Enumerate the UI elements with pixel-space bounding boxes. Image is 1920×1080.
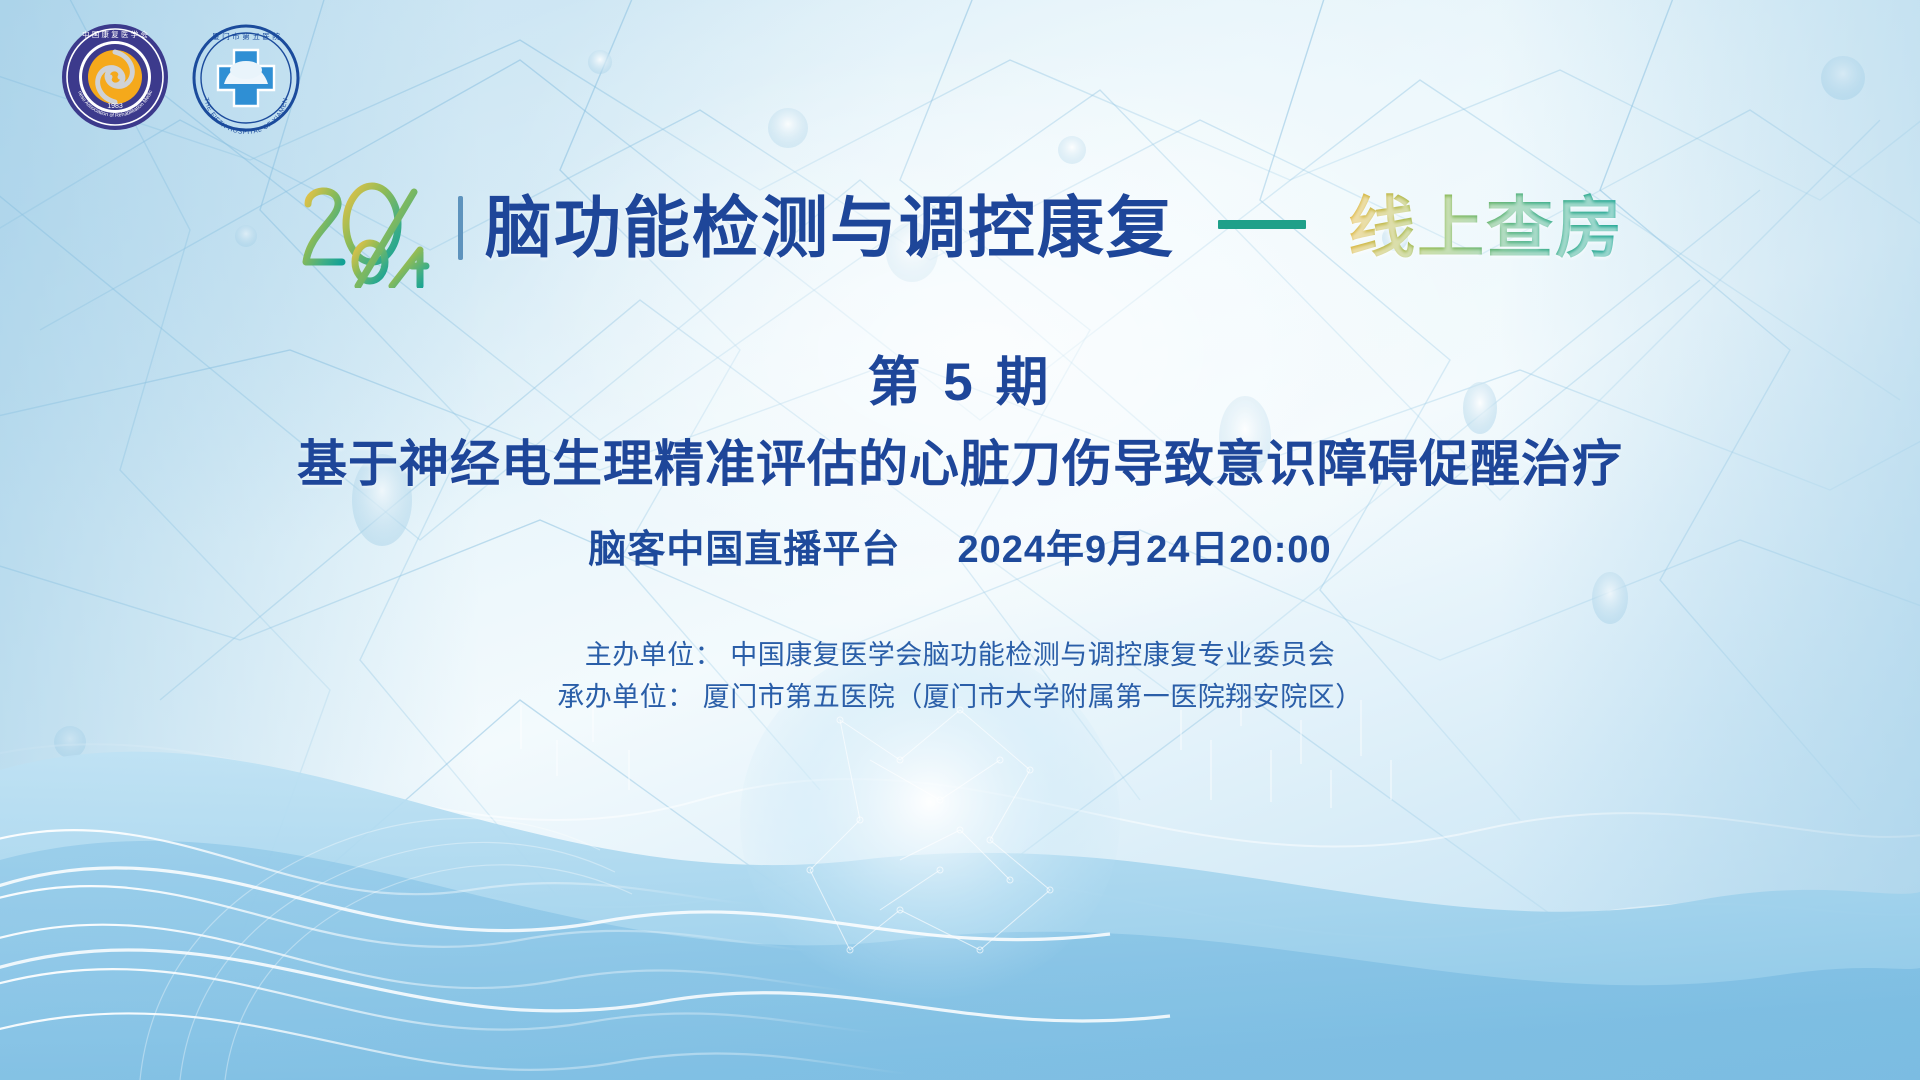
logo-row: 1983 中 国 康 复 医 学 会 Chinese Association o… (60, 22, 302, 134)
carm-founded-year: 1983 (107, 103, 123, 110)
organizer-co-host: 承办单位： 厦门市第五医院（厦门市大学附属第一医院翔安院区） (0, 676, 1920, 718)
fifth-hospital-of-xiamen-logo: 厦 门 市 第 五 医 院 THE FIFTH HOSPITAL OF XIAM… (190, 22, 302, 134)
year-2024-mark-icon (296, 168, 436, 288)
platform-and-datetime: 脑客中国直播平台 2024年9月24日20:00 (0, 518, 1920, 573)
title-blue-text: 脑功能检测与调控康复 (485, 191, 1175, 266)
china-association-of-rehabilitation-medicine-logo: 1983 中 国 康 复 医 学 会 Chinese Association o… (60, 22, 170, 132)
svg-text:厦 门 市 第 五 医 院: 厦 门 市 第 五 医 院 (212, 31, 280, 41)
event-poster: 1983 中 国 康 复 医 学 会 Chinese Association o… (0, 0, 1920, 1080)
hospital-emblem-icon: 厦 门 市 第 五 医 院 THE FIFTH HOSPITAL OF XIAM… (190, 22, 302, 134)
event-datetime: 2024年9月24日20:00 (958, 529, 1332, 571)
title-dash-rule (1218, 220, 1306, 229)
title-separator-bar (458, 196, 463, 260)
organizer-block: 主办单位： 中国康复医学会脑功能检测与调控康复专业委员会 承办单位： 厦门市第五… (0, 634, 1920, 718)
session-title: 基于神经电生理精准评估的心脏刀伤导致意识障碍促醒治疗 (0, 424, 1920, 496)
page-title: 脑功能检测与调控康复 线上查房 (485, 195, 1624, 262)
platform-name: 脑客中国直播平台 (588, 529, 900, 571)
main-title-row: 脑功能检测与调控康复 线上查房 (0, 168, 1920, 288)
organizer-host: 主办单位： 中国康复医学会脑功能检测与调控康复专业委员会 (0, 634, 1920, 676)
title-green-text: 线上查房 (1348, 191, 1624, 266)
svg-text:中 国 康 复 医 学 会: 中 国 康 复 医 学 会 (82, 30, 148, 39)
episode-number: 第 5 期 (0, 340, 1920, 416)
carm-emblem-icon: 1983 中 国 康 复 医 学 会 Chinese Association o… (60, 22, 170, 132)
